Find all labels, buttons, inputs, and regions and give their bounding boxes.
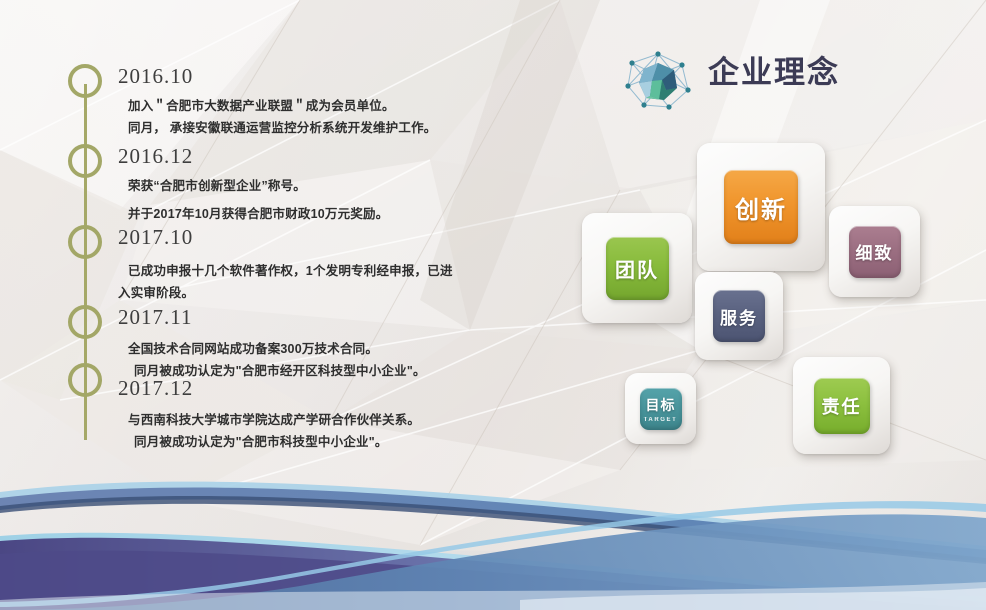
timeline-node-4[interactable]: [68, 305, 102, 339]
timeline-date: 2016.10: [118, 66, 518, 87]
value-tile: 团队: [606, 237, 669, 300]
timeline-body: 与西南科技大学城市学院达成产学研合作伙伴关系。 同月被成功认定为"合肥市科技型中…: [118, 410, 518, 453]
timeline-date: 2016.12: [118, 146, 518, 167]
timeline-body: 已成功申报十几个软件著作权，1个发明专利经申报，已进 入实审阶段。: [118, 261, 518, 304]
timeline-entry[interactable]: 2017.11 全国技术合同网站成功备案300万技术合同。 同月被成功认定为"合…: [118, 307, 518, 382]
value-card-target[interactable]: 目标 TARGET: [625, 373, 696, 444]
slide-canvas: 2016.10 加入＂合肥市大数据产业联盟＂成为会员单位。 同月， 承接安徽联通…: [0, 0, 986, 610]
timeline-line: 同月， 承接安徽联通运营监控分析系统开发维护工作。: [118, 118, 518, 140]
timeline-node-5[interactable]: [68, 363, 102, 397]
timeline-line: 全国技术合同网站成功备案300万技术合同。: [118, 339, 518, 361]
timeline-body: 加入＂合肥市大数据产业联盟＂成为会员单位。 同月， 承接安徽联通运营监控分析系统…: [118, 96, 518, 139]
value-card-innovation[interactable]: 创新: [697, 143, 825, 271]
timeline-node-3[interactable]: [68, 225, 102, 259]
timeline-date: 2017.12: [118, 378, 518, 399]
bottom-wave-decoration: [0, 450, 986, 610]
value-label: 细致: [856, 239, 894, 264]
timeline-date: 2017.10: [118, 227, 518, 248]
value-label: 服务: [720, 304, 758, 329]
timeline-entry[interactable]: 2016.12 荣获“合肥市创新型企业”称号。 并于2017年10月获得合肥市财…: [118, 146, 518, 225]
value-card-responsibility[interactable]: 责任: [793, 357, 890, 454]
timeline-line: 并于2017年10月获得合肥市财政10万元奖励。: [118, 204, 518, 226]
value-card-meticulous[interactable]: 细致: [829, 206, 920, 297]
timeline-entry[interactable]: 2017.12 与西南科技大学城市学院达成产学研合作伙伴关系。 同月被成功认定为…: [118, 378, 518, 453]
value-tile: 责任: [814, 378, 870, 434]
timeline-line: 已成功申报十几个软件著作权，1个发明专利经申报，已进: [118, 261, 518, 283]
page-title: 企业理念: [708, 56, 840, 92]
value-tile: 创新: [724, 170, 798, 244]
polygon-gem-network-logo-icon: [622, 50, 694, 112]
timeline-node-2[interactable]: [68, 144, 102, 178]
timeline-date: 2017.11: [118, 307, 518, 328]
value-card-team[interactable]: 团队: [582, 213, 692, 323]
timeline-line: 加入＂合肥市大数据产业联盟＂成为会员单位。: [118, 96, 518, 118]
value-tile: 细致: [849, 226, 901, 278]
value-label: 目标: [646, 395, 676, 415]
timeline-node-1[interactable]: [68, 64, 102, 98]
timeline-entry[interactable]: 2016.10 加入＂合肥市大数据产业联盟＂成为会员单位。 同月， 承接安徽联通…: [118, 66, 518, 139]
timeline: 2016.10 加入＂合肥市大数据产业联盟＂成为会员单位。 同月， 承接安徽联通…: [0, 0, 540, 470]
timeline-line: 入实审阶段。: [118, 283, 518, 305]
value-tile: 目标 TARGET: [640, 388, 682, 430]
timeline-line: 与西南科技大学城市学院达成产学研合作伙伴关系。: [118, 410, 518, 432]
timeline-line: 荣获“合肥市创新型企业”称号。: [118, 176, 518, 198]
value-label: 团队: [615, 254, 659, 283]
section-header: 企业理念: [622, 50, 952, 110]
timeline-entry[interactable]: 2017.10 已成功申报十几个软件著作权，1个发明专利经申报，已进 入实审阶段…: [118, 227, 518, 304]
value-sublabel: TARGET: [644, 417, 678, 423]
value-tile: 服务: [713, 290, 765, 342]
timeline-body: 荣获“合肥市创新型企业”称号。 并于2017年10月获得合肥市财政10万元奖励。: [118, 176, 518, 225]
value-label: 创新: [735, 190, 787, 225]
value-label: 责任: [822, 393, 862, 419]
value-card-service[interactable]: 服务: [695, 272, 783, 360]
